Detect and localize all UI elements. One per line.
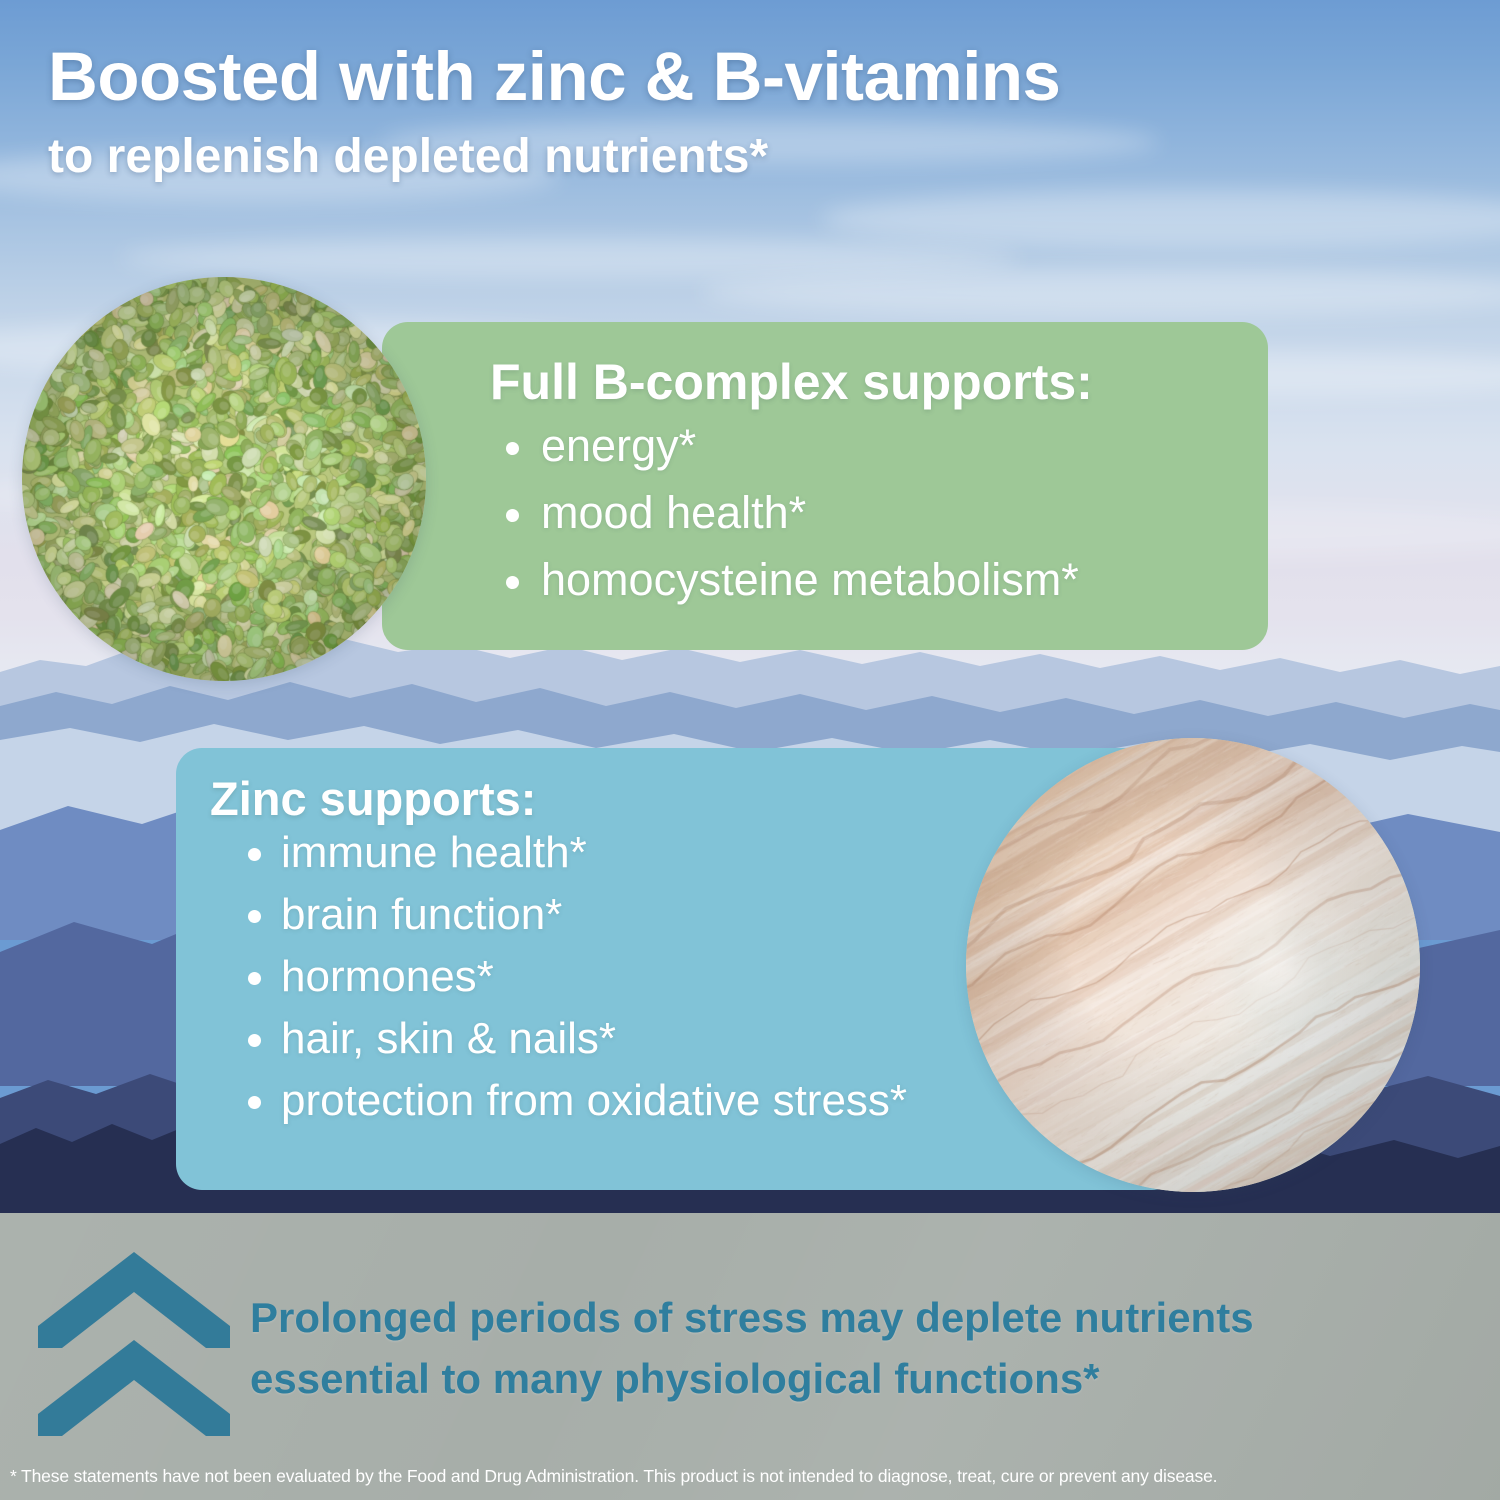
chevron-up-icon [34, 1336, 234, 1440]
list-item-label: homocysteine metabolism* [541, 557, 1079, 602]
b-complex-bullet-list: energy* mood health* homocysteine metabo… [490, 423, 1228, 602]
pumpkin-seeds-photo [22, 277, 426, 681]
list-item-label: energy* [541, 423, 696, 468]
list-item: mood health* [490, 490, 1228, 535]
bullet-dot-icon [248, 1096, 261, 1109]
list-item: homocysteine metabolism* [490, 557, 1228, 602]
bullet-dot-icon [248, 972, 261, 985]
page-subtitle: to replenish depleted nutrients* [48, 133, 1378, 181]
zinc-panel-title: Zinc supports: [210, 774, 1138, 823]
fda-disclaimer: * These statements have not been evaluat… [10, 1466, 1500, 1487]
b-complex-panel-title: Full B-complex supports: [490, 356, 1228, 409]
infographic-canvas: Boosted with zinc & B-vitamins to replen… [0, 0, 1500, 1500]
chevron-group [34, 1248, 234, 1446]
banner-line-2: essential to many physiological function… [250, 1349, 1480, 1410]
bullet-dot-icon [506, 442, 519, 455]
bullet-dot-icon [248, 910, 261, 923]
bullet-dot-icon [248, 1034, 261, 1047]
list-item-label: protection from oxidative stress* [281, 1079, 907, 1123]
list-item: energy* [490, 423, 1228, 468]
b-complex-panel: Full B-complex supports: energy* mood he… [382, 322, 1268, 650]
header-block: Boosted with zinc & B-vitamins to replen… [48, 42, 1378, 181]
page-title: Boosted with zinc & B-vitamins [48, 42, 1378, 111]
oyster-shell-photo [966, 738, 1420, 1192]
list-item-label: mood health* [541, 490, 806, 535]
bullet-dot-icon [506, 509, 519, 522]
bullet-dot-icon [248, 848, 261, 861]
list-item: protection from oxidative stress* [210, 1079, 1138, 1123]
banner-line-1: Prolonged periods of stress may deplete … [250, 1288, 1480, 1349]
list-item-label: hormones* [281, 955, 494, 999]
list-item-label: brain function* [281, 893, 562, 937]
banner-message: Prolonged periods of stress may deplete … [250, 1288, 1480, 1410]
bullet-dot-icon [506, 576, 519, 589]
list-item-label: immune health* [281, 831, 587, 875]
list-item-label: hair, skin & nails* [281, 1017, 616, 1061]
